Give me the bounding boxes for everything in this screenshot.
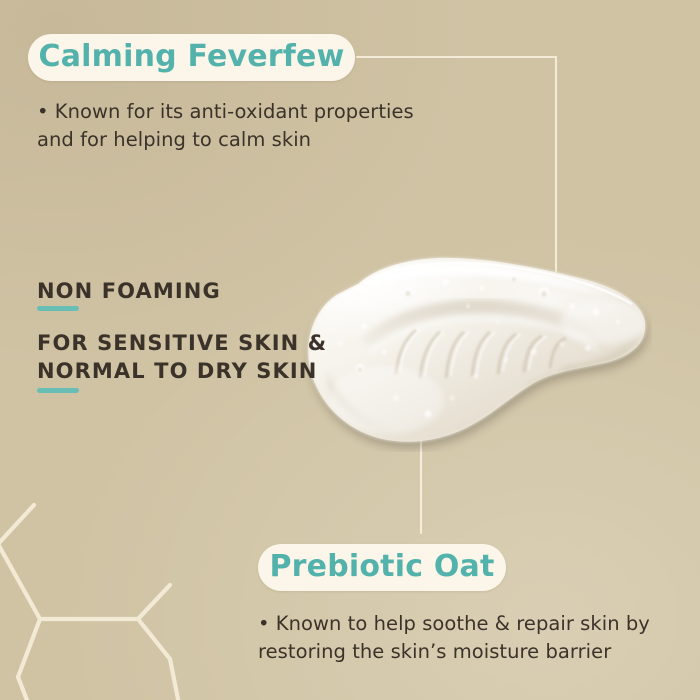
honeycomb-pattern-icon (0, 499, 244, 700)
claim-rule-skin-type (37, 388, 79, 393)
claim-non-foaming: NON FOAMING (37, 278, 221, 306)
callout-pill-prebiotic-oat[interactable]: Prebiotic Oat (258, 544, 506, 591)
callout-pill-label: Calming Feverfew (39, 39, 345, 74)
callout-pill-label: Prebiotic Oat (269, 549, 494, 584)
callout-pill-calming-feverfew[interactable]: Calming Feverfew (28, 34, 355, 81)
claim-skin-type: FOR SENSITIVE SKIN & NORMAL TO DRY SKIN (37, 330, 327, 386)
claim-rule-non-foaming (37, 306, 79, 311)
callout-body-calming-feverfew: • Known for its anti-oxidant properties … (37, 98, 457, 154)
connector-line-feverfew (357, 57, 556, 273)
callout-body-prebiotic-oat: • Known to help soothe & repair skin by … (258, 610, 688, 666)
ingredient-infographic: Calming Feverfew • Known for its anti-ox… (0, 0, 700, 700)
cream-texture-swatch (300, 248, 652, 452)
